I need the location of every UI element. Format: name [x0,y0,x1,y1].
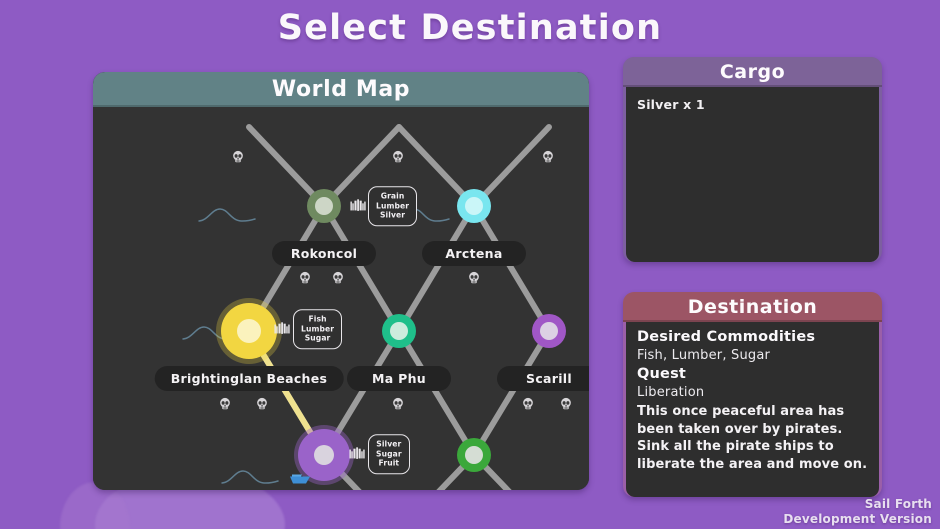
commodity-item: Grain [381,191,405,201]
port-icon [349,447,365,462]
route-line [474,331,549,455]
commodity-item: Sugar [305,333,331,343]
danger-skull-icon [332,270,345,284]
map-node-core [390,322,408,340]
commodity-box-canfon: SilverSugarFruit [368,434,410,474]
world-map-canvas[interactable]: RokoncolGrainLumberSilverArctenaBrightin… [93,107,589,490]
danger-skull-icon [468,270,481,284]
map-node-rokoncol[interactable] [307,189,341,223]
page-title: Select Destination [0,8,940,48]
quest-label: Quest [637,365,869,384]
map-node-label-rokoncol[interactable]: Rokoncol [272,241,376,266]
commodity-box-rokoncol: GrainLumberSilver [368,186,417,226]
map-node-core [315,197,333,215]
map-node-core [465,446,483,464]
commodity-item: Silver [380,210,405,220]
destination-details: Desired Commodities Fish, Lumber, Sugar … [626,322,879,497]
route-line [474,206,549,331]
commodity-item: Lumber [301,324,334,334]
map-node-core [540,322,558,340]
destination-header: Destination [623,292,882,322]
commodity-box-brightinglan-beaches: FishLumberSugar [293,309,342,349]
watermark-line2: Development Version [783,512,932,527]
desired-commodities-label: Desired Commodities [637,328,869,347]
map-node-arctena[interactable] [457,189,491,223]
destination-panel: Destination Desired Commodities Fish, Lu… [623,292,882,497]
danger-skull-icon [392,396,405,410]
world-map-header: World Map [93,72,589,107]
danger-skull-icon [219,396,232,410]
map-node-label-scarill[interactable]: Scarill [497,366,589,391]
quest-description: This once peaceful area has been taken o… [637,403,869,473]
cargo-panel: Cargo Silver x 1 [623,57,882,262]
wave-decoration [198,206,256,228]
map-node-label-ma-phu[interactable]: Ma Phu [347,366,451,391]
commodity-item: Lumber [376,201,409,211]
commodity-item: Sugar [376,449,402,459]
danger-skull-icon [542,149,555,163]
map-node-label-brightinglan-beaches[interactable]: Brightinglan Beaches [155,366,344,391]
map-node-scarill[interactable] [532,314,566,348]
danger-skull-icon [522,396,535,410]
route-line [399,331,474,455]
cargo-list[interactable]: Silver x 1 [626,87,879,262]
commodity-item: Fruit [379,458,400,468]
map-node-trenfan-fjords[interactable] [457,438,491,472]
port-icon [350,199,366,214]
world-map-panel: World Map RokoncolGrainLumberSilverArcte… [93,72,589,490]
quest-name: Liberation [637,384,869,402]
map-node-core [314,445,334,465]
player-ship-icon [289,470,311,489]
danger-skull-icon [392,149,405,163]
desired-commodities-value: Fish, Lumber, Sugar [637,347,869,365]
map-node-brightinglan-beaches[interactable] [221,303,277,359]
watermark-line1: Sail Forth [783,497,932,512]
cargo-item[interactable]: Silver x 1 [637,96,869,114]
watermark: Sail Forth Development Version [783,497,932,527]
map-node-ma-phu[interactable] [382,314,416,348]
danger-skull-icon [560,396,573,410]
commodity-item: Silver [376,439,401,449]
map-node-core [465,197,483,215]
danger-skull-icon [256,396,269,410]
cargo-header: Cargo [623,57,882,87]
wave-decoration [221,468,279,490]
commodity-item: Fish [308,314,326,324]
map-node-label-arctena[interactable]: Arctena [422,241,526,266]
port-icon [274,322,290,337]
danger-skull-icon [299,270,312,284]
danger-skull-icon [232,149,245,163]
map-node-core [237,319,261,343]
